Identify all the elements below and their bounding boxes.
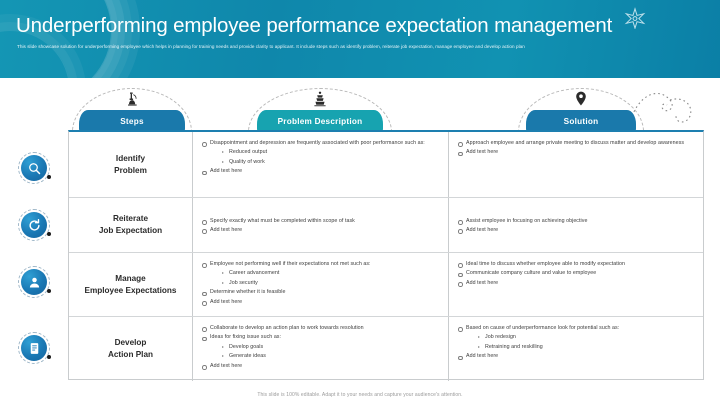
- sub-bullet-text: Quality of work: [229, 159, 265, 165]
- list-item: Quality of work: [221, 158, 442, 167]
- bullet-list: Assist employee in focusing on achieving…: [457, 217, 587, 236]
- bullet-text: Specify exactly what must be completed w…: [210, 218, 355, 224]
- list-item: Generate ideas: [221, 352, 442, 361]
- table-row: Identify Problem Disappointment and depr…: [69, 132, 703, 198]
- sub-bullet-text: Job redesign: [485, 334, 516, 340]
- step-label-line2: Action Plan: [108, 350, 153, 359]
- dome-fill: Steps: [79, 110, 185, 132]
- dome-fill: Problem Description: [257, 110, 384, 132]
- list-item: Add text here: [457, 148, 697, 157]
- page-subtitle: This slide showcase solution for underpe…: [17, 43, 682, 51]
- bullet-text: Add text here: [210, 363, 242, 369]
- icon-disc: [21, 155, 47, 181]
- sub-bullet-text: Generate ideas: [229, 353, 266, 359]
- list-item: Employee not performing well if their ex…: [201, 260, 442, 288]
- list-item: Add text here: [457, 352, 697, 361]
- bullet-list: Employee not performing well if their ex…: [201, 260, 442, 307]
- bullet-list: Disappointment and depression are freque…: [201, 139, 442, 177]
- cell-problem-description: Disappointment and depression are freque…: [193, 132, 449, 197]
- list-item: Job redesign: [477, 333, 697, 342]
- list-item: Ideas for fixing issue such as: Develop …: [201, 333, 442, 361]
- sub-bullet-text: Reduced output: [229, 149, 267, 155]
- magnifier-icon: [27, 161, 42, 176]
- bullet-text: Collaborate to develop an action plan to…: [210, 325, 364, 331]
- list-item: Ideal time to discuss whether employee a…: [457, 260, 697, 269]
- slide-header-banner: Underperforming employee performance exp…: [0, 0, 720, 78]
- list-item: Communicate company culture and value to…: [457, 269, 697, 278]
- bullet-text: Add text here: [466, 227, 498, 233]
- sub-bullet-text: Job security: [229, 280, 258, 286]
- list-item: Assist employee in focusing on achieving…: [457, 217, 587, 226]
- icon-disc: [21, 335, 47, 361]
- step-label-line2: Job Expectation: [99, 226, 162, 235]
- page-title: Underperforming employee performance exp…: [16, 14, 612, 38]
- step-label-line1: Develop: [115, 338, 147, 347]
- bullet-text: Disappointment and depression are freque…: [210, 140, 425, 146]
- list-item: Add text here: [201, 298, 442, 307]
- dome-fill: Solution: [526, 110, 637, 132]
- table-row: Reiterate Job Expectation Specify exactl…: [69, 198, 703, 253]
- list-item: Add text here: [201, 362, 442, 371]
- bullet-text: Add text here: [466, 280, 498, 286]
- list-item: Develop goals: [221, 343, 442, 352]
- sub-bullet-list: Job redesign Retraining and reskilling: [477, 333, 697, 352]
- step-label-line1: Identify: [116, 154, 145, 163]
- side-icon-reiterate-job-expectation[interactable]: [18, 209, 50, 241]
- person-check-icon: [27, 275, 42, 290]
- list-item: Specify exactly what must be completed w…: [201, 217, 355, 226]
- list-item: Collaborate to develop an action plan to…: [201, 324, 442, 333]
- side-icon-identify-problem[interactable]: [18, 152, 50, 184]
- list-item: Add text here: [457, 279, 697, 288]
- bullet-list: Specify exactly what must be completed w…: [201, 217, 355, 236]
- bullet-text: Add text here: [210, 299, 242, 305]
- bullet-text: Add text here: [210, 168, 242, 174]
- bullet-list: Based on cause of underperformance look …: [457, 324, 697, 362]
- sparkle-star-icon: [624, 7, 646, 29]
- list-item: Add text here: [201, 167, 442, 176]
- list-item: Career advancement: [221, 269, 442, 278]
- bullet-text: Add text here: [466, 353, 498, 359]
- step-label-line1: Reiterate: [113, 214, 148, 223]
- bullet-text: Approach employee and arrange private me…: [466, 140, 684, 146]
- column-header-solution: Solution: [518, 88, 644, 132]
- cell-problem-description: Specify exactly what must be completed w…: [193, 198, 449, 252]
- side-icon-develop-action-plan[interactable]: [18, 332, 50, 364]
- cell-step: Reiterate Job Expectation: [69, 198, 193, 252]
- bullet-text: Ideas for fixing issue such as:: [210, 334, 281, 340]
- bullet-text: Ideal time to discuss whether employee a…: [466, 261, 625, 267]
- location-pin-icon: [573, 90, 589, 107]
- sub-bullet-text: Retraining and reskilling: [485, 344, 543, 350]
- list-item: Based on cause of underperformance look …: [457, 324, 697, 352]
- side-icon-manage-employee-expectations[interactable]: [18, 266, 50, 298]
- bullet-text: Add text here: [210, 227, 242, 233]
- accent-dot: [47, 289, 51, 293]
- bullet-text: Based on cause of underperformance look …: [466, 325, 619, 331]
- column-header-label: Steps: [120, 117, 144, 126]
- step-label-line2: Problem: [114, 166, 147, 175]
- bullet-list: Approach employee and arrange private me…: [457, 139, 697, 158]
- column-header-label: Problem Description: [278, 117, 363, 126]
- footer-note: This slide is 100% editable. Adapt it to…: [0, 392, 720, 398]
- cell-step: Develop Action Plan: [69, 317, 193, 381]
- microscope-icon: [124, 90, 140, 107]
- column-header-label: Solution: [564, 117, 599, 126]
- bullet-text: Assist employee in focusing on achieving…: [466, 218, 587, 224]
- bullet-list: Collaborate to develop an action plan to…: [201, 324, 442, 371]
- column-header-steps: Steps: [72, 88, 192, 132]
- list-item: Retraining and reskilling: [477, 343, 697, 352]
- cell-solution: Based on cause of underperformance look …: [449, 317, 703, 381]
- cell-problem-description: Employee not performing well if their ex…: [193, 253, 449, 316]
- table-row: Manage Employee Expectations Employee no…: [69, 253, 703, 317]
- bullet-text: Add text here: [466, 149, 498, 155]
- cell-problem-description: Collaborate to develop an action plan to…: [193, 317, 449, 381]
- cell-solution: Assist employee in focusing on achieving…: [449, 198, 703, 252]
- refresh-cycle-icon: [27, 218, 42, 233]
- accent-dot: [47, 175, 51, 179]
- cell-solution: Ideal time to discuss whether employee a…: [449, 253, 703, 316]
- list-item: Determine whether it is feasible: [201, 288, 442, 297]
- bullet-text: Employee not performing well if their ex…: [210, 261, 371, 267]
- cell-step: Identify Problem: [69, 132, 193, 197]
- list-item: Job security: [221, 279, 442, 288]
- cell-solution: Approach employee and arrange private me…: [449, 132, 703, 197]
- list-item: Disappointment and depression are freque…: [201, 139, 442, 167]
- list-item: Approach employee and arrange private me…: [457, 139, 697, 148]
- sub-bullet-list: Develop goals Generate ideas: [221, 343, 442, 362]
- step-label-line2: Employee Expectations: [85, 286, 177, 295]
- table-row: Develop Action Plan Collaborate to devel…: [69, 317, 703, 381]
- column-header-problem-description: Problem Description: [248, 88, 392, 132]
- step-label-line1: Manage: [115, 274, 145, 283]
- list-item: Add text here: [457, 226, 587, 235]
- list-item: Add text here: [201, 226, 355, 235]
- sub-bullet-text: Develop goals: [229, 344, 263, 350]
- icon-disc: [21, 269, 47, 295]
- icon-disc: [21, 212, 47, 238]
- sub-bullet-list: Career advancement Job security: [221, 269, 442, 288]
- cell-step: Manage Employee Expectations: [69, 253, 193, 316]
- sub-bullet-text: Career advancement: [229, 270, 279, 276]
- content-table: Identify Problem Disappointment and depr…: [68, 130, 704, 380]
- accent-dot: [47, 355, 51, 359]
- sub-bullet-list: Reduced output Quality of work: [221, 148, 442, 167]
- bullet-list: Ideal time to discuss whether employee a…: [457, 260, 697, 288]
- document-icon: [27, 341, 42, 356]
- podium-icon: [312, 90, 328, 107]
- bullet-text: Communicate company culture and value to…: [466, 270, 596, 276]
- accent-dot: [47, 232, 51, 236]
- bullet-text: Determine whether it is feasible: [210, 289, 286, 295]
- list-item: Reduced output: [221, 148, 442, 157]
- slide-canvas: Underperforming employee performance exp…: [0, 0, 720, 404]
